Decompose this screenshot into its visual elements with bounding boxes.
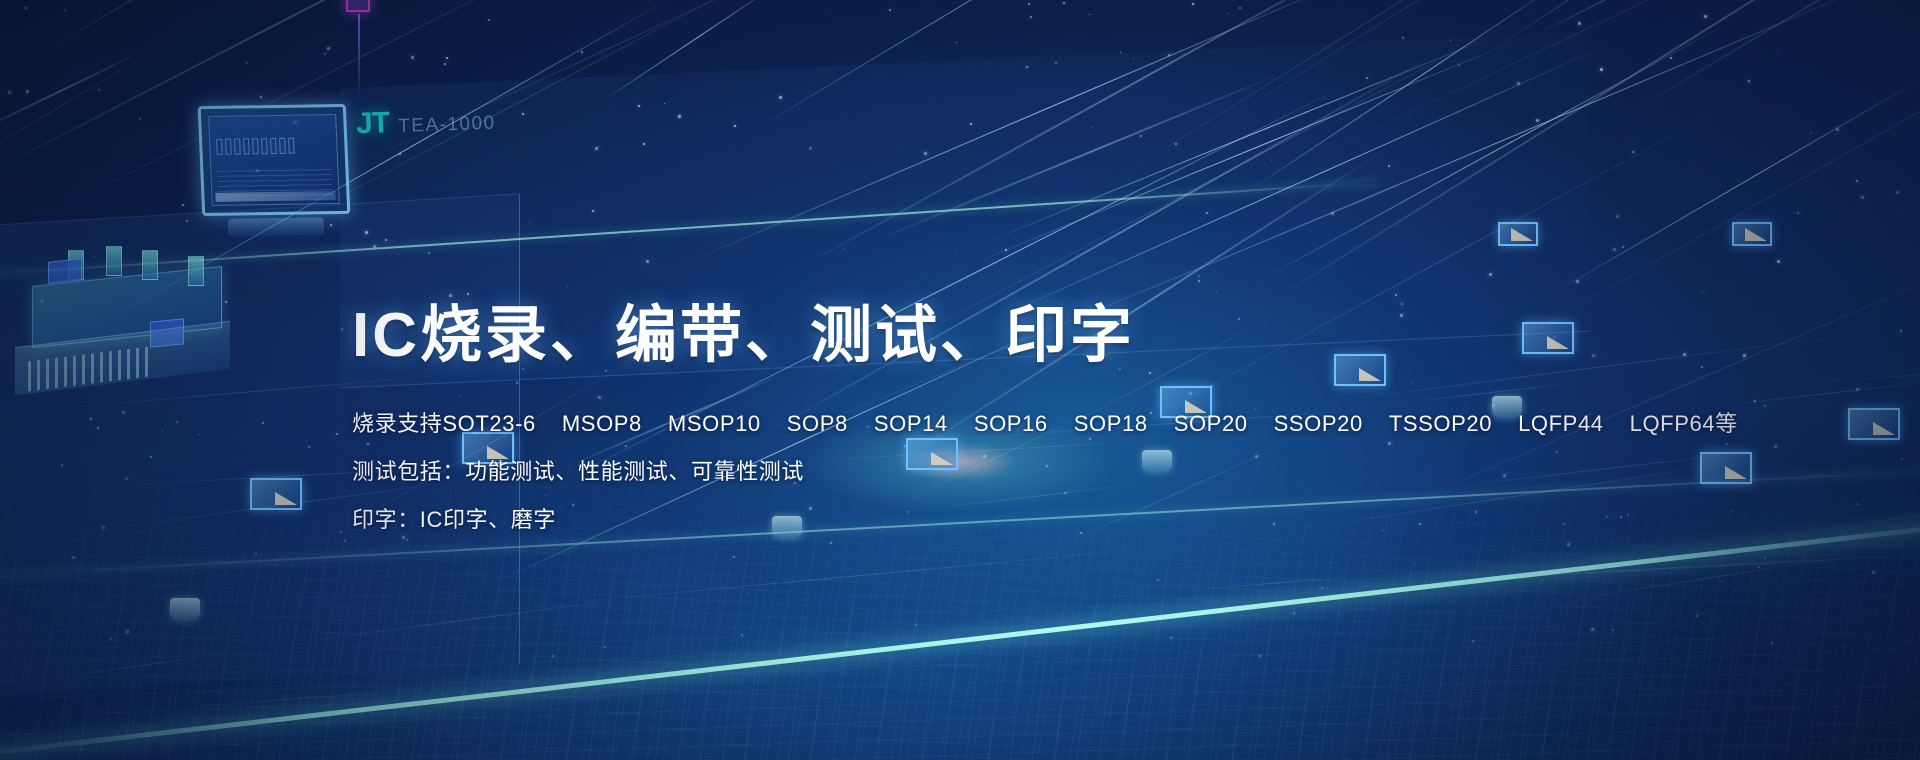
particle-dot (1683, 353, 1686, 356)
particle-dot (1030, 16, 1032, 18)
package-label: SOT23-6 (442, 413, 535, 435)
particle-dot (826, 9, 827, 10)
particle-dot (90, 418, 92, 420)
particle-dot (1198, 280, 1200, 282)
particle-dot (1330, 563, 1331, 564)
particle-dot (1120, 52, 1121, 53)
package-label: SOP8 (787, 413, 848, 435)
particle-dot (1856, 503, 1858, 505)
particle-dot (1732, 511, 1733, 512)
particle-dot (1856, 180, 1858, 182)
package-label: MSOP10 (668, 413, 761, 435)
particle-dot (1239, 7, 1241, 9)
caster-icon (170, 598, 200, 620)
particle-dot (1578, 22, 1581, 25)
particle-dot (182, 204, 184, 206)
particle-dot (1702, 291, 1703, 292)
particle-dot (446, 57, 448, 59)
particle-dot (567, 286, 568, 287)
particle-dot (1157, 579, 1159, 581)
chip-icon (1498, 222, 1538, 246)
particle-dot (956, 42, 957, 43)
particle-dot (1458, 64, 1460, 66)
particle-dot (488, 19, 490, 21)
particle-dot (1321, 587, 1323, 589)
package-label: MSOP8 (562, 413, 642, 435)
particle-dot (1402, 37, 1404, 39)
particle-dot (1842, 647, 1843, 648)
particle-dot (1771, 642, 1773, 644)
particle-dot (1701, 366, 1703, 368)
particle-dot (125, 477, 128, 480)
particle-dot (1722, 581, 1723, 582)
monitor-taskbar (215, 191, 335, 202)
hero-banner: JT TEA-1000 IC烧录、编带、测试、印字 烧录支持SOT23-6MSO… (0, 0, 1920, 760)
particle-dot (279, 314, 280, 315)
particle-dot (604, 646, 606, 648)
monitor-bars (216, 138, 295, 155)
particle-dot (1726, 443, 1728, 445)
particle-dot (581, 51, 583, 53)
particle-dot (1704, 15, 1707, 18)
particle-dot (385, 239, 387, 241)
particle-dot (1591, 628, 1594, 631)
particle-dot (1192, 3, 1194, 5)
particle-dot (102, 526, 105, 529)
particle-dot (646, 260, 649, 263)
particle-dot (1206, 212, 1208, 214)
particle-dot (1536, 119, 1539, 122)
detail-line-marking: 印字：IC印字、磨字 (352, 509, 1652, 531)
particle-dot (186, 220, 188, 222)
particle-dot (741, 634, 743, 636)
particle-dot (98, 89, 100, 91)
particle-dot (1228, 13, 1229, 14)
chip-icon (1848, 408, 1900, 440)
particle-dot (411, 56, 414, 59)
particle-dot (246, 62, 248, 64)
particle-dot (1764, 557, 1766, 559)
brand-logo: JT TEA-1000 (355, 103, 496, 142)
particle-dot (122, 411, 125, 414)
particle-dot (924, 152, 927, 155)
particle-dot (308, 446, 310, 448)
particle-dot (399, 153, 401, 155)
particle-dot (1861, 196, 1864, 199)
monitor-screen (208, 114, 340, 206)
particle-dot (1517, 82, 1520, 85)
particle-dot (1810, 132, 1812, 134)
particle-dot (110, 638, 112, 640)
particle-dot (552, 655, 554, 657)
particle-dot (1616, 215, 1619, 218)
particle-dot (26, 90, 29, 93)
particle-dot (1776, 49, 1777, 50)
particle-dot (1489, 273, 1492, 276)
particle-dot (1450, 40, 1451, 41)
particle-dot (595, 147, 598, 150)
particle-dot (1903, 211, 1904, 212)
particle-dot (449, 294, 452, 297)
particle-dot (150, 456, 152, 458)
package-label: SOP20 (1174, 413, 1248, 435)
particle-dot (373, 653, 374, 654)
package-label: SSOP20 (1274, 413, 1363, 435)
package-label: TSSOP20 (1389, 413, 1492, 435)
particle-dot (1764, 405, 1766, 407)
particle-dot (522, 113, 524, 115)
particle-dot (1331, 212, 1334, 215)
particle-dot (1092, 127, 1093, 128)
particle-dot (1758, 566, 1760, 568)
particle-dot (1388, 165, 1390, 167)
particle-dot (529, 222, 530, 223)
particle-dot (1259, 655, 1261, 657)
particle-dot (1175, 143, 1177, 145)
particle-dot (255, 553, 257, 555)
particle-dot (1748, 80, 1750, 82)
package-label: SOP16 (974, 413, 1048, 435)
particle-dot (955, 250, 956, 251)
particle-dot (1576, 280, 1579, 283)
particle-dot (444, 63, 446, 65)
particle-dot (162, 431, 163, 432)
particle-dot (199, 434, 200, 435)
particle-dot (1836, 128, 1839, 131)
particle-dot (1777, 260, 1780, 263)
package-label: LQFP64等 (1630, 413, 1738, 435)
package-label: LQFP44 (1518, 413, 1604, 435)
monitor-stand (228, 217, 325, 236)
particle-dot (341, 328, 343, 330)
particle-dot (8, 91, 11, 94)
particle-dot (97, 427, 99, 429)
crt-monitor-icon (198, 104, 351, 216)
particle-dot (1632, 151, 1634, 153)
particle-dot (1170, 637, 1172, 639)
particle-dot (970, 123, 972, 125)
detail-line-test-scope: 测试包括：功能测试、性能测试、可靠性测试 (352, 461, 1652, 483)
particle-dot (467, 293, 469, 295)
particle-dot (1366, 77, 1368, 79)
brand-mark-text: JT (355, 106, 389, 141)
particle-dot (324, 53, 326, 55)
particle-dot (1293, 612, 1295, 614)
particle-dot (433, 647, 434, 648)
detail-list: 烧录支持SOT23-6MSOP8MSOP10SOP8SOP14SOP16SOP1… (352, 413, 1652, 531)
particle-dot (260, 96, 262, 98)
package-list: SOT23-6MSOP8MSOP10SOP8SOP14SOP16SOP18SOP… (442, 413, 1737, 435)
particle-dot (1735, 591, 1736, 592)
particle-dot (336, 433, 338, 435)
particle-dot (344, 540, 346, 542)
particle-dot (1140, 135, 1142, 137)
detail-line-burn-support: 烧录支持SOT23-6MSOP8MSOP10SOP8SOP14SOP16SOP1… (352, 413, 1652, 435)
chip-icon (250, 478, 302, 510)
particle-dot (734, 125, 736, 127)
particle-dot (1901, 458, 1903, 460)
particle-dot (64, 9, 66, 11)
particle-dot (1005, 249, 1007, 251)
particle-dot (41, 580, 42, 581)
particle-dot (126, 630, 129, 633)
particle-dot (1612, 629, 1614, 631)
particle-dot (1168, 54, 1170, 56)
particle-dot (99, 13, 100, 14)
particle-dot (1872, 571, 1875, 574)
particle-dot (1809, 612, 1810, 613)
particle-dot (804, 643, 805, 644)
particle-dot (1774, 445, 1777, 448)
particle-dot (428, 252, 430, 254)
particle-dot (1670, 57, 1672, 59)
particle-dot (1063, 2, 1065, 4)
particle-dot (330, 224, 332, 226)
machine-block (48, 258, 82, 284)
particle-dot (1026, 66, 1028, 68)
particle-dot (638, 105, 640, 107)
particle-dot (139, 118, 141, 120)
particle-dot (1472, 640, 1474, 642)
particle-dot (176, 421, 178, 423)
particle-dot (1754, 400, 1756, 402)
particle-dot (592, 210, 594, 212)
particle-dot (889, 9, 891, 11)
particle-dot (747, 593, 748, 594)
particle-dot (70, 573, 71, 574)
particle-dot (1028, 3, 1030, 5)
particle-dot (1271, 160, 1272, 161)
particle-dot (1900, 330, 1902, 332)
particle-dot (1723, 18, 1724, 19)
particle-dot (1696, 615, 1698, 617)
particle-dot (340, 531, 342, 533)
particle-dot (1600, 68, 1603, 71)
particle-dot (1133, 58, 1134, 59)
particle-dot (664, 103, 665, 104)
indicator-stem (358, 14, 360, 100)
brand-model-text: TEA-1000 (398, 113, 496, 138)
particle-dot (67, 584, 68, 585)
particle-dot (262, 422, 264, 424)
magenta-indicator-icon (346, 0, 370, 12)
particle-dot (779, 96, 782, 99)
particle-dot (365, 231, 368, 234)
hero-content: IC烧录、编带、测试、印字 烧录支持SOT23-6MSOP8MSOP10SOP8… (352, 300, 1652, 557)
particle-dot (1309, 589, 1310, 590)
particle-dot (1622, 246, 1624, 248)
particle-dot (643, 143, 645, 145)
particle-dot (1813, 499, 1814, 500)
particle-dot (1613, 248, 1616, 251)
particle-dot (1216, 291, 1217, 292)
particle-dot (61, 464, 63, 466)
particle-dot (843, 248, 844, 249)
chip-icon (1700, 452, 1752, 484)
chip-icon (1732, 222, 1772, 246)
machine-cylinder (142, 250, 158, 280)
page-title: IC烧录、编带、测试、印字 (352, 300, 1652, 371)
particle-dot (1797, 212, 1799, 214)
particle-dot (1856, 388, 1859, 391)
particle-dot (72, 556, 75, 559)
package-label: SOP18 (1074, 413, 1148, 435)
particle-dot (1198, 275, 1200, 277)
particle-dot (809, 147, 812, 150)
particle-dot (1896, 191, 1899, 194)
particle-dot (1306, 111, 1307, 112)
particle-dot (1160, 622, 1161, 623)
particle-dot (25, 7, 27, 9)
package-label: SOP14 (874, 413, 948, 435)
particle-dot (1743, 354, 1746, 357)
particle-dot (915, 624, 917, 626)
particle-dot (1089, 14, 1090, 15)
particle-dot (1888, 525, 1889, 526)
particle-dot (327, 47, 330, 50)
particle-dot (1055, 62, 1057, 64)
particle-dot (1880, 635, 1881, 636)
particle-dot (1415, 563, 1416, 564)
particle-dot (1395, 294, 1397, 296)
machine-cylinder (106, 246, 122, 276)
particle-dot (678, 115, 681, 118)
burn-support-prefix: 烧录支持 (352, 411, 442, 436)
